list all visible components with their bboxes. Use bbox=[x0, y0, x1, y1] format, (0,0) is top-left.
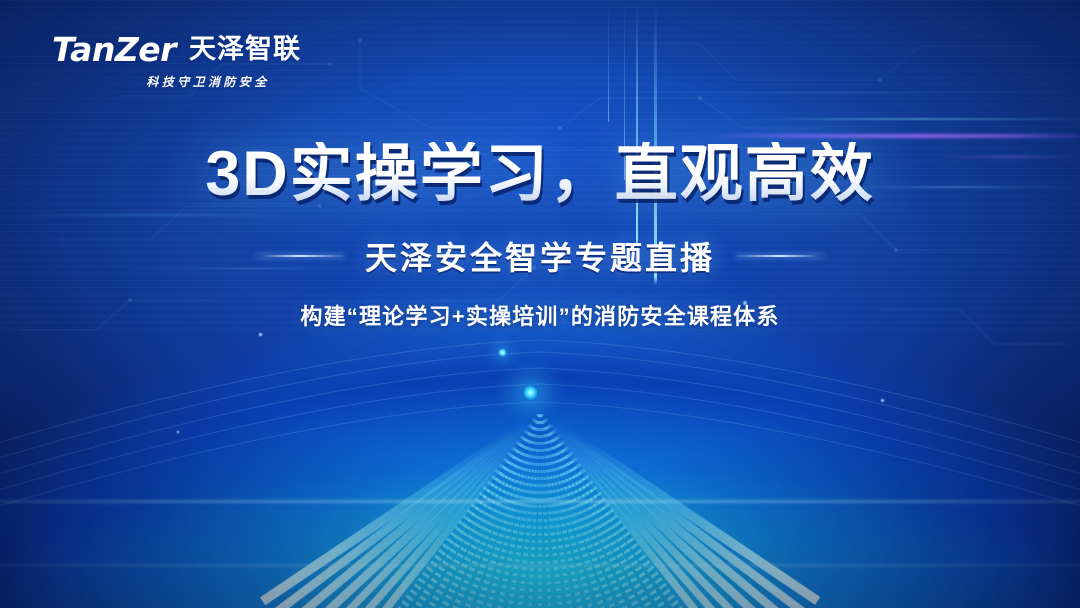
divider-line-left bbox=[257, 255, 343, 257]
brand-logo-en: TanZer bbox=[52, 33, 176, 66]
brand-logo-row: TanZer 天泽智联 bbox=[52, 33, 312, 66]
headline-container: 3D实操学习，直观高效 bbox=[0, 142, 1080, 208]
subtitle-container: 天泽安全智学专题直播 bbox=[0, 233, 1080, 279]
divider-line-right bbox=[737, 255, 823, 257]
page-subtitle: 天泽安全智学专题直播 bbox=[365, 233, 715, 279]
page-tagline: 构建“理论学习+实操培训”的消防安全课程体系 bbox=[0, 299, 1080, 331]
brand-slogan: 科技守卫消防安全 bbox=[104, 73, 312, 90]
brand-logo[interactable]: TanZer 天泽智联 科技守卫消防安全 bbox=[52, 33, 312, 90]
page-title: 3D实操学习，直观高效 bbox=[205, 142, 875, 208]
brand-logo-cn: 天泽智联 bbox=[189, 36, 301, 63]
poster-canvas: TanZer 天泽智联 科技守卫消防安全 3D实操学习，直观高效 天泽安全智学专… bbox=[0, 0, 1080, 608]
